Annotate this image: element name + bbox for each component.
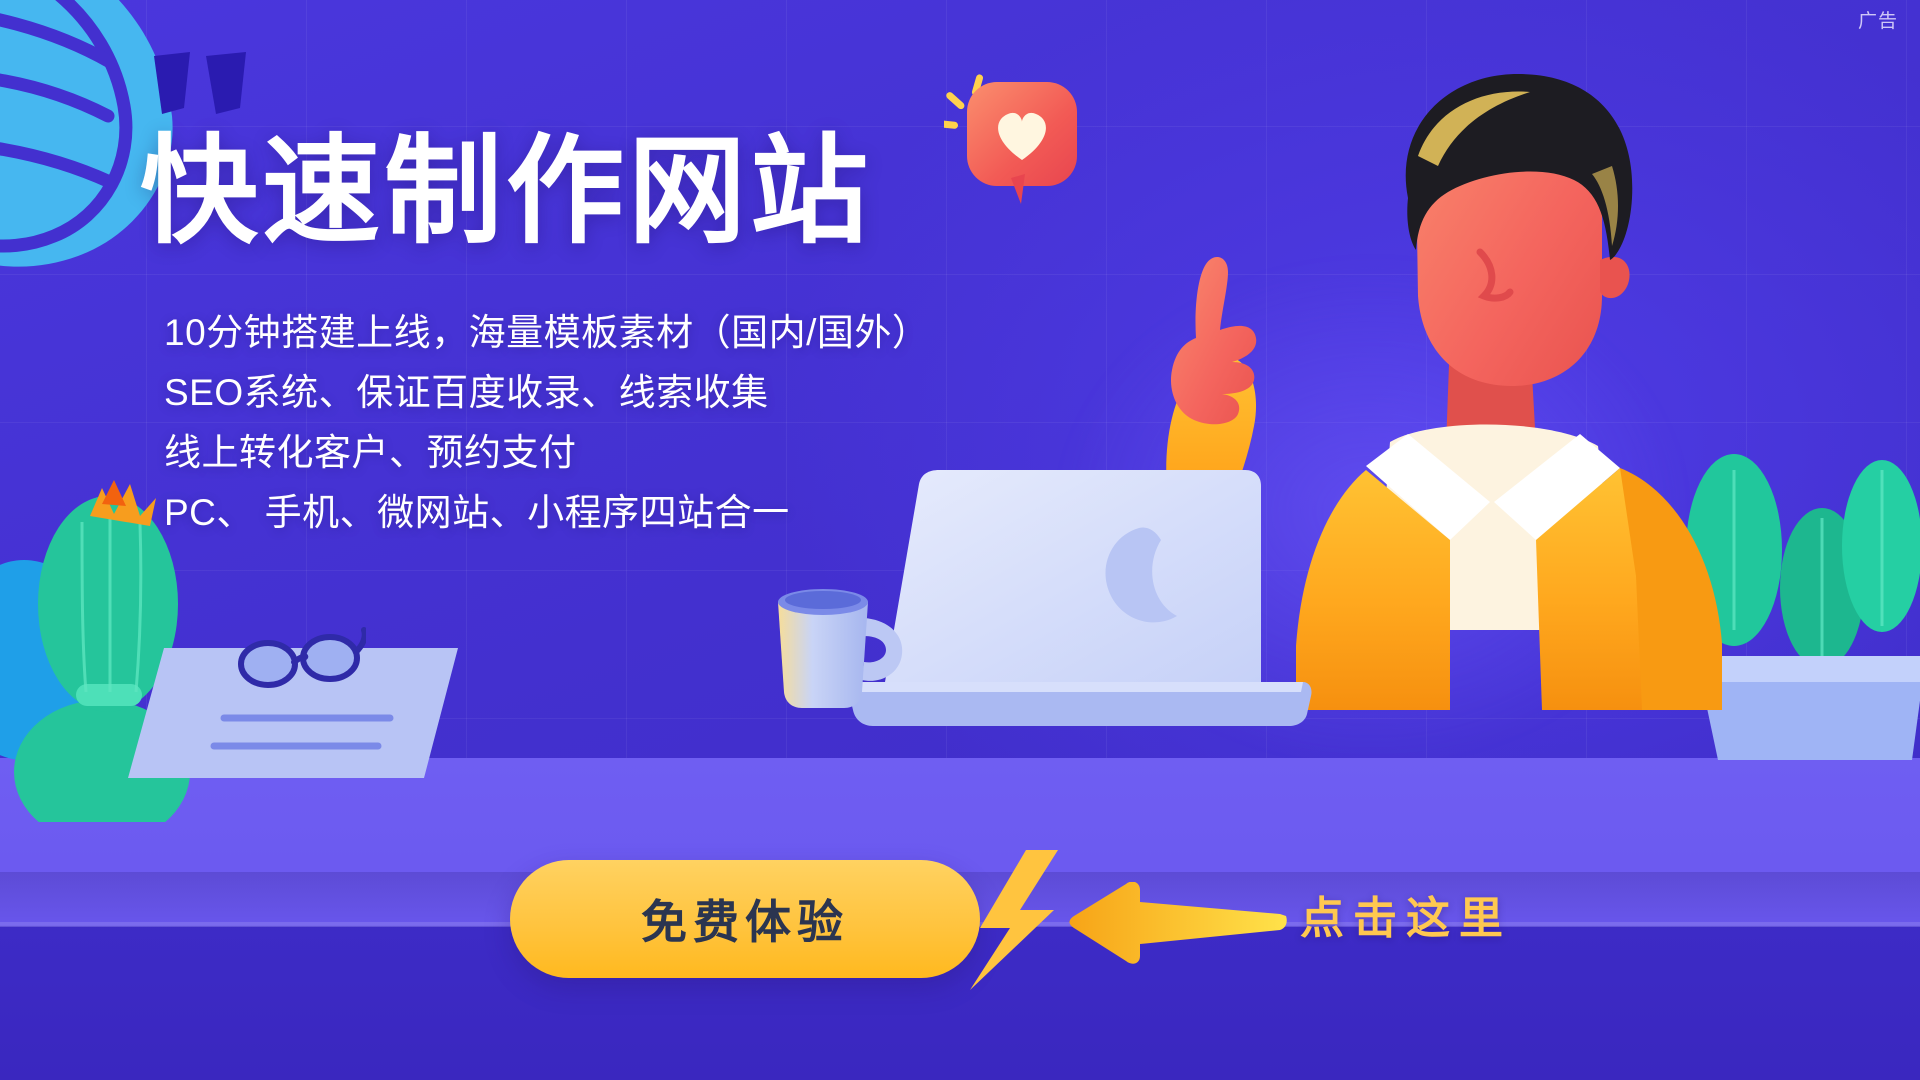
ad-label: 广告: [1858, 6, 1898, 33]
feature-list: 10分钟搭建上线，海量模板素材（国内/国外） SEO系统、保证百度收录、线索收集…: [164, 303, 1040, 543]
ad-banner[interactable]: 广告 快速制作网站 10分钟搭建上线，海量模板素材（国内/国外） SEO系统、保…: [0, 0, 1920, 1080]
click-here-hint: 点击这里: [1300, 882, 1512, 946]
list-item: PC、 手机、微网站、小程序四站合一: [164, 483, 1040, 543]
lightning-bolt-icon: [962, 850, 1072, 990]
coffee-mug-icon: [768, 580, 908, 708]
list-item: 线上转化客户、预约支付: [164, 423, 1040, 483]
arrow-left-icon: [1068, 882, 1288, 964]
list-item: SEO系统、保证百度收录、线索收集: [164, 363, 1040, 423]
page-title: 快速制作网站: [140, 130, 1040, 255]
ad-copy-block: 快速制作网站 10分钟搭建上线，海量模板素材（国内/国外） SEO系统、保证百度…: [140, 130, 1040, 543]
free-trial-button[interactable]: 免费体验: [510, 860, 980, 978]
list-item: 10分钟搭建上线，海量模板素材（国内/国外）: [164, 303, 1040, 363]
eyeglasses-icon: [236, 622, 366, 692]
